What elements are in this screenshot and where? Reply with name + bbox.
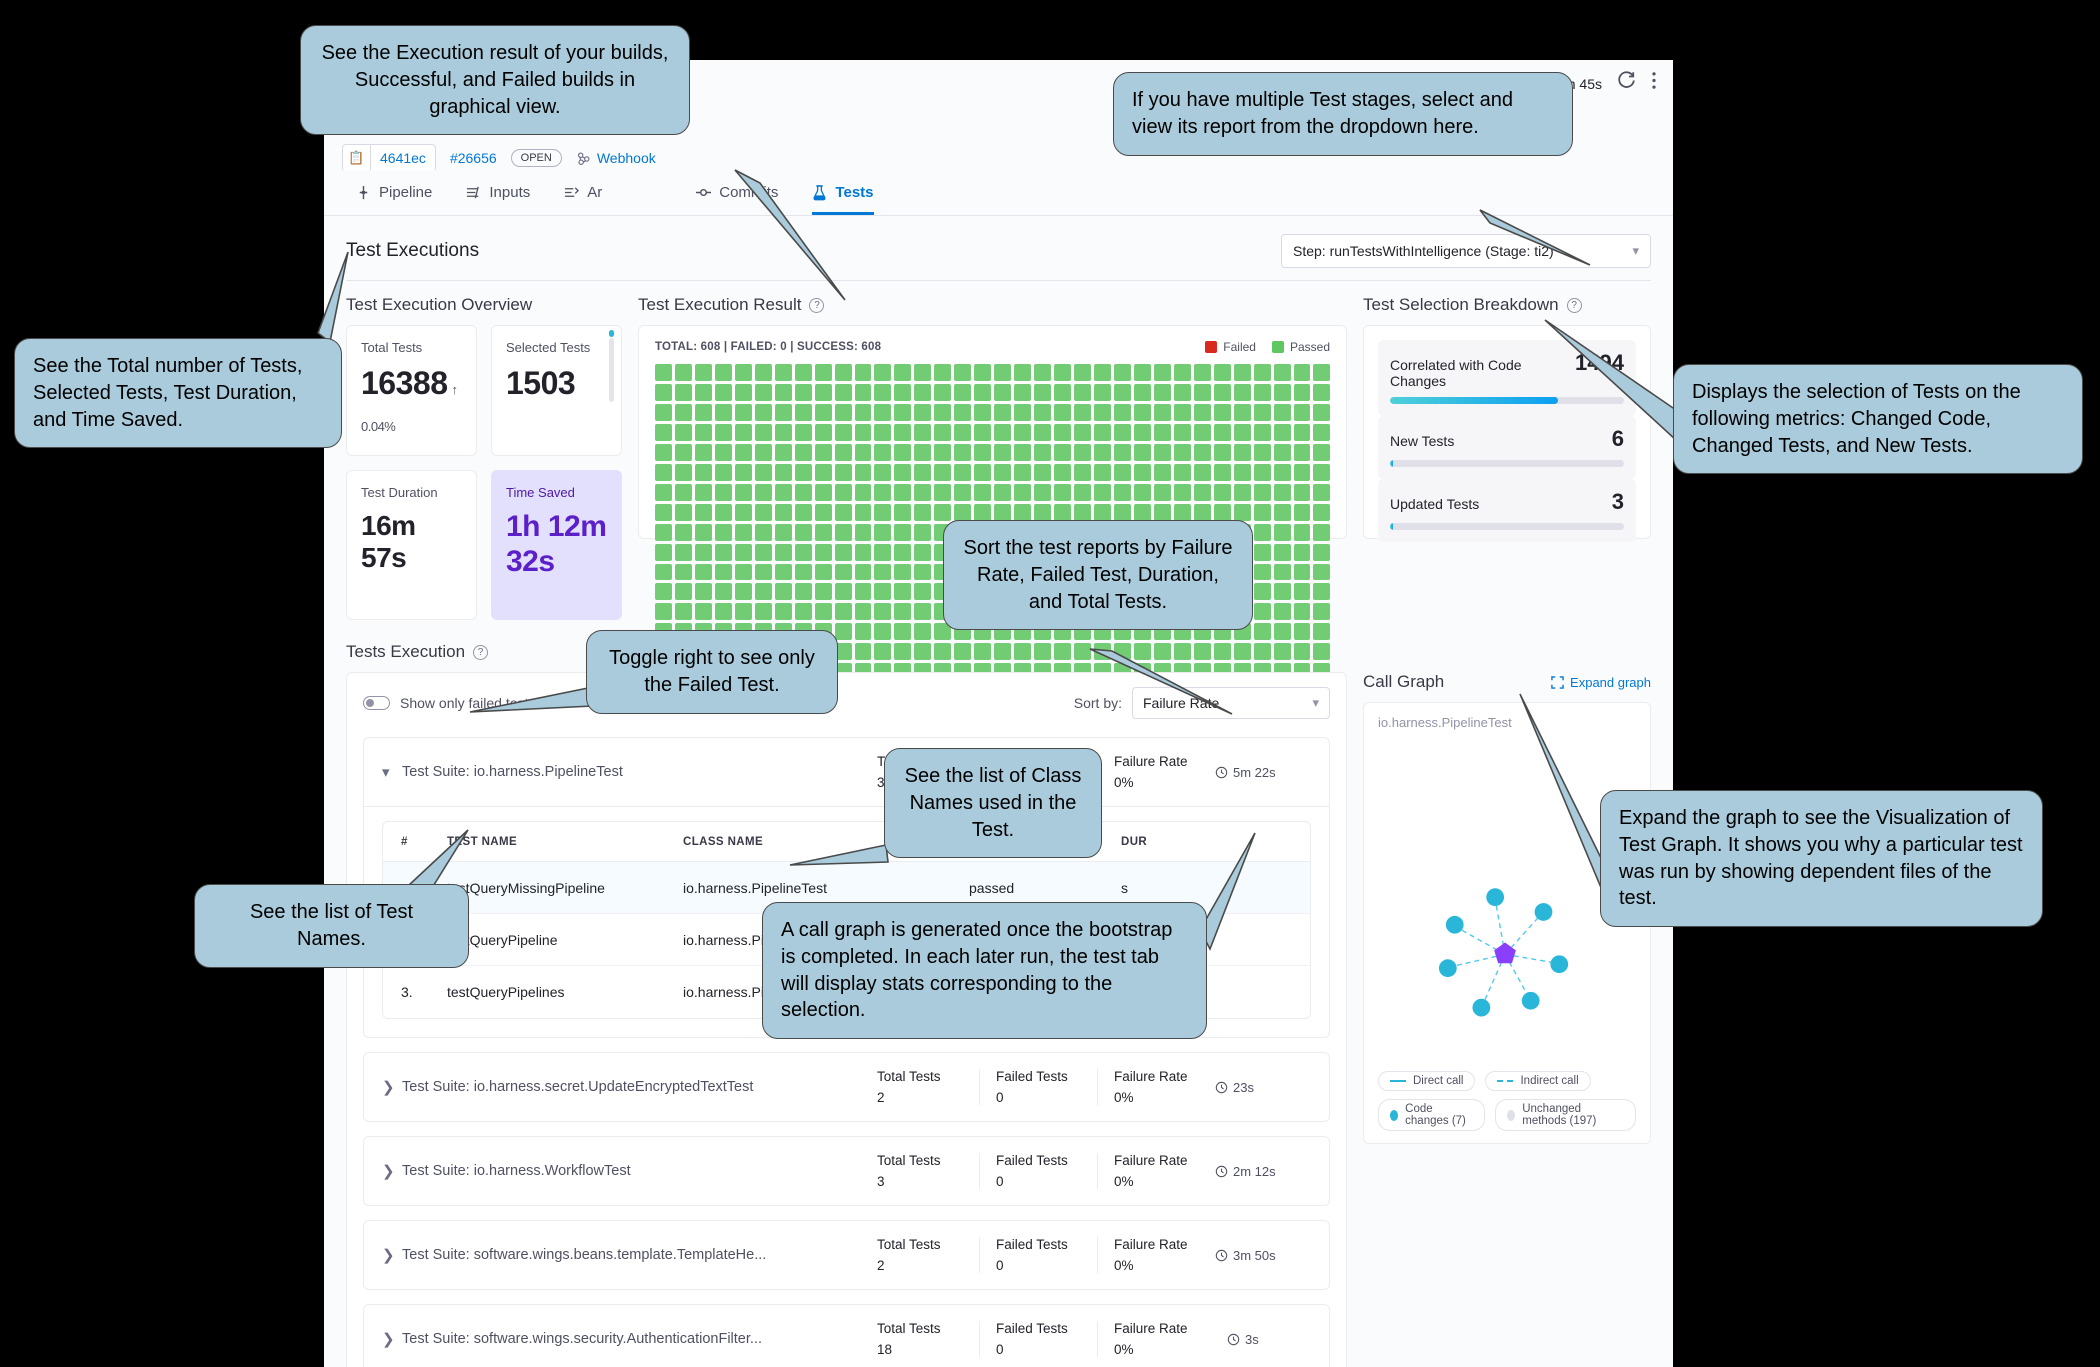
callout-toggle: Toggle right to see only the Failed Test… xyxy=(586,630,838,714)
callout-expand: Expand the graph to see the Visualizatio… xyxy=(1600,790,2043,927)
callout-sort: Sort the test reports by Failure Rate, F… xyxy=(943,520,1253,630)
callout-leaders xyxy=(0,0,2100,1367)
callout-call-graph: A call graph is generated once the boots… xyxy=(762,902,1207,1039)
callout-test-stages: If you have multiple Test stages, select… xyxy=(1113,72,1573,156)
callout-class-names: See the list of Class Names used in the … xyxy=(884,748,1102,858)
callout-exec-result: See the Execution result of your builds,… xyxy=(300,25,690,135)
screenshot-root: 2-backup ❯ SUCCESS 📋 4641ec #26656 OPEN xyxy=(0,0,2100,1367)
callout-metrics: Displays the selection of Tests on the f… xyxy=(1673,364,2083,474)
callout-totals: See the Total number of Tests, Selected … xyxy=(14,338,342,448)
callout-test-names: See the list of Test Names. xyxy=(194,884,469,968)
